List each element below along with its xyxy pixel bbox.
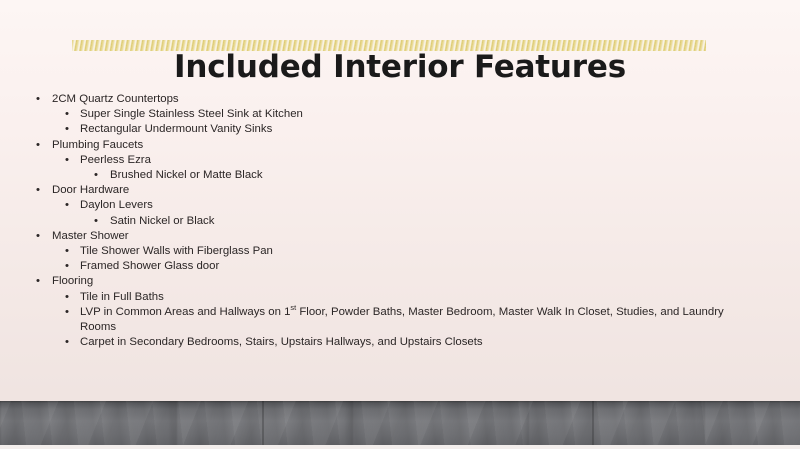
list-item: • Tile in Full Baths — [0, 290, 785, 305]
list-item-label: Rectangular Undermount Vanity Sinks — [80, 122, 785, 137]
list-item-label-part-1: LVP in Common Areas and Hallways on 1 — [80, 306, 290, 318]
list-item-label: Flooring — [52, 274, 785, 289]
list-item-label: Plumbing Faucets — [52, 138, 785, 153]
floor-seam — [592, 401, 594, 445]
list-item-label: Framed Shower Glass door — [80, 259, 785, 274]
list-item: • 2CM Quartz Countertops — [0, 92, 785, 107]
list-item: • Door Hardware — [0, 183, 785, 198]
list-item-label: Super Single Stainless Steel Sink at Kit… — [80, 107, 785, 122]
bullet-glyph: • — [65, 198, 69, 213]
bullet-glyph: • — [36, 183, 40, 198]
bullet-glyph: • — [65, 244, 69, 259]
list-item: • Super Single Stainless Steel Sink at K… — [0, 107, 785, 122]
list-item: • Brushed Nickel or Matte Black — [0, 168, 785, 183]
list-item-label: Brushed Nickel or Matte Black — [110, 168, 785, 183]
list-item-label: 2CM Quartz Countertops — [52, 92, 785, 107]
list-item: • Peerless Ezra — [0, 153, 785, 168]
list-item-label: Tile in Full Baths — [80, 290, 785, 305]
list-item-label: Satin Nickel or Black — [110, 214, 785, 229]
floor-seam — [262, 401, 264, 445]
list-item: • Satin Nickel or Black — [0, 214, 785, 229]
slide-bottom-margin — [0, 445, 800, 449]
list-item: • LVP in Common Areas and Hallways on 1s… — [0, 305, 785, 335]
list-item-label: Daylon Levers — [80, 198, 785, 213]
list-item-label: LVP in Common Areas and Hallways on 1st … — [80, 305, 740, 335]
bullet-glyph: • — [36, 92, 40, 107]
bullet-glyph: • — [94, 168, 98, 183]
list-item-label: Door Hardware — [52, 183, 785, 198]
bullet-glyph: • — [36, 229, 40, 244]
list-item: • Rectangular Undermount Vanity Sinks — [0, 122, 785, 137]
floor-image-band — [0, 401, 800, 445]
list-item: • Tile Shower Walls with Fiberglass Pan — [0, 244, 785, 259]
bullet-glyph: • — [94, 214, 98, 229]
feature-bullet-list: • 2CM Quartz Countertops • Super Single … — [0, 92, 785, 350]
bullet-glyph: • — [65, 335, 69, 350]
bullet-glyph: • — [65, 107, 69, 122]
list-item: • Plumbing Faucets — [0, 138, 785, 153]
floor-texture — [0, 401, 800, 445]
bullet-glyph: • — [65, 259, 69, 274]
list-item: • Carpet in Secondary Bedrooms, Stairs, … — [0, 335, 785, 350]
bullet-glyph: • — [65, 305, 69, 320]
list-item-label: Carpet in Secondary Bedrooms, Stairs, Up… — [80, 335, 785, 350]
list-item: • Flooring — [0, 274, 785, 289]
list-item: • Daylon Levers — [0, 198, 785, 213]
bullet-glyph: • — [65, 122, 69, 137]
bullet-glyph: • — [36, 138, 40, 153]
list-item-label: Master Shower — [52, 229, 785, 244]
list-item: • Framed Shower Glass door — [0, 259, 785, 274]
bullet-glyph: • — [36, 274, 40, 289]
slide-canvas: Included Interior Features • 2CM Quartz … — [0, 0, 800, 449]
list-item-label: Peerless Ezra — [80, 153, 785, 168]
list-item: • Master Shower — [0, 229, 785, 244]
list-item-label: Tile Shower Walls with Fiberglass Pan — [80, 244, 785, 259]
bullet-glyph: • — [65, 290, 69, 305]
page-title: Included Interior Features — [0, 51, 800, 84]
bullet-glyph: • — [65, 153, 69, 168]
